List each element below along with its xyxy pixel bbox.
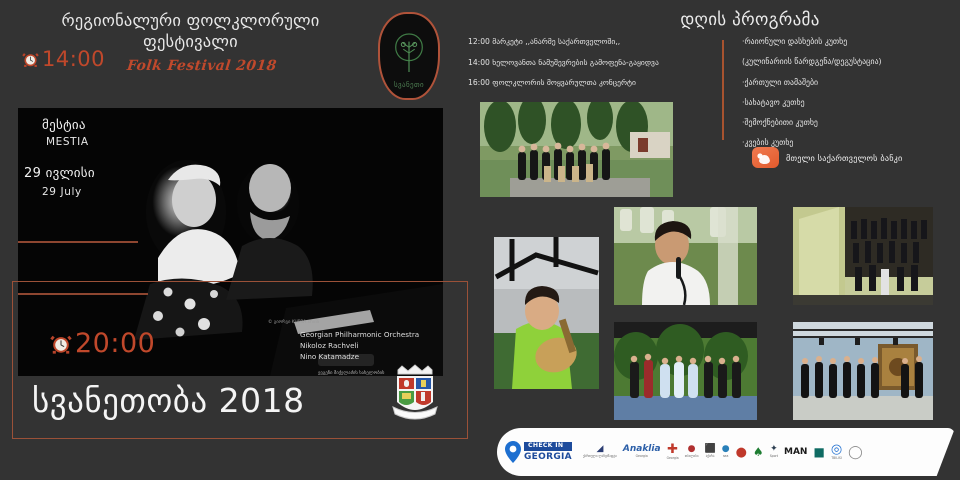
photo-group-outdoors xyxy=(480,102,673,197)
sponsor-logo-glyph: ◯ xyxy=(848,446,863,459)
program-schedule-list: 12:00 მარკეტი ,,ანარმე საქართველოში,, 14… xyxy=(468,38,698,100)
city-rule-top xyxy=(18,241,138,243)
photo-ensemble-stage xyxy=(614,322,757,420)
sponsor-logo[interactable]: MAN xyxy=(784,448,807,457)
poster-date-en: 29 July xyxy=(42,186,82,198)
program-vertical-divider xyxy=(722,40,724,140)
activity-item: ·შემოქნებითი კუთხე xyxy=(742,119,957,127)
sponsor-logos-row: ◢ ქართული ლანდშაფტი Anaklia Georgia ✚ Ge… xyxy=(583,443,863,460)
sponsor-logo[interactable]: ◯ xyxy=(848,446,863,459)
sponsor-logo-glyph: ● xyxy=(736,446,747,459)
emblem-label: სვანეთი xyxy=(380,81,438,89)
sponsor-logo-caption: sea xyxy=(723,455,728,458)
tree-emblem-icon xyxy=(390,28,428,82)
poster-city-ka: მესტია xyxy=(42,118,86,133)
header-start-time: 14:00 xyxy=(42,49,105,70)
lion-logo-icon xyxy=(752,147,779,168)
festival-bottom-title: სვანეთობა 2018 xyxy=(32,381,305,420)
header-start-time-row: 14:00 xyxy=(22,49,105,70)
schedule-item: 12:00 მარკეტი ,,ანარმე საქართველოში,, xyxy=(468,38,698,46)
georgia-label: GEORGIA xyxy=(524,453,572,462)
sponsor-logo[interactable]: ● თბილისი xyxy=(685,445,699,458)
activity-item: ·ქართული თამაშები xyxy=(742,79,957,87)
photo-dancers-stage xyxy=(793,322,933,420)
sponsor-logo[interactable]: ♠ xyxy=(753,446,764,458)
sponsor-logo[interactable]: ■ xyxy=(813,446,824,458)
sponsor-logo-glyph: ● xyxy=(722,445,730,454)
sponsor-logo[interactable]: ● xyxy=(736,446,747,459)
sponsor-logo[interactable]: Anaklia Georgia xyxy=(623,445,661,458)
sponsor-logo-glyph: MAN xyxy=(784,448,807,457)
sponsor-logo-caption: Georgia xyxy=(667,457,679,460)
photo-boy-panduri xyxy=(494,237,599,389)
check-in-label: CHECK IN xyxy=(524,442,572,451)
program-activities-list: ·რაიონული დასხების კუთხე (კულინარიის წარ… xyxy=(742,38,957,160)
sponsor-logo-caption: თბილისი xyxy=(685,455,699,458)
photo-choir-hall xyxy=(793,207,933,305)
poster-city-en: MESTIA xyxy=(46,136,89,148)
sponsor-logo-caption: Sport xyxy=(770,455,778,458)
header-script-subtitle: Folk Festival 2018 xyxy=(126,58,277,74)
sponsor-logo[interactable]: ◎ TBILISI xyxy=(831,443,842,460)
sponsor-logo-glyph: ● xyxy=(688,445,696,454)
sponsor-logo-glyph: ♠ xyxy=(753,446,764,458)
sponsor-logo[interactable]: ✚ Georgia xyxy=(667,443,679,460)
sponsor-logo-glyph: Anaklia xyxy=(623,445,661,454)
schedule-item: 16:00 ფოლკლორის მოყვარულთა კონცერტი xyxy=(468,79,698,87)
photo-singer-mic xyxy=(614,207,757,305)
sponsor-logo-caption: ქართული ლანდშაფტი xyxy=(583,455,617,458)
sponsor-logo[interactable]: ✦ Sport xyxy=(770,445,778,458)
sponsor-logo-glyph: ✦ xyxy=(770,445,778,454)
sponsor-logo[interactable]: ◢ ქართული ლანდშაფტი xyxy=(583,445,617,458)
sponsor-logo[interactable]: ● sea xyxy=(722,445,730,458)
activity-item: (კულინარიის წარდგენა/დეგუსტაცია) xyxy=(742,58,957,66)
poster-date-ka: 29 ივლისი xyxy=(24,166,95,181)
sponsor-bank-badge: მთელი საქართველოს ბანკი xyxy=(752,147,903,168)
check-in-georgia-text: CHECK IN GEORGIA xyxy=(524,442,572,462)
alarm-clock-icon xyxy=(22,51,39,68)
sponsor-logo-glyph: ■ xyxy=(813,446,824,458)
sponsor-logo-glyph: ✚ xyxy=(667,443,678,456)
activity-item: ·სახატავო კუთხე xyxy=(742,99,957,107)
sponsor-logo-glyph: ◎ xyxy=(831,443,842,456)
sponsor-logo-glyph: ⬛ xyxy=(705,445,716,454)
sponsor-logo-caption: აჭარა xyxy=(706,455,715,458)
coat-of-arms-icon xyxy=(388,362,442,426)
program-heading: დღის პროგრამა xyxy=(600,10,900,30)
header-title-line1: რეგიონალური ფოლკლორული xyxy=(18,10,363,31)
sponsor-logo-bar: CHECK IN GEORGIA ◢ ქართული ლანდშაფტი Ana… xyxy=(497,428,955,476)
location-pin-icon xyxy=(505,441,521,463)
sponsor-logo[interactable]: ⬛ აჭარა xyxy=(705,445,716,458)
sponsor-bank-name: მთელი საქართველოს ბანკი xyxy=(786,153,903,163)
sponsor-logo-caption: Georgia xyxy=(636,455,648,458)
sponsor-logo-glyph: ◢ xyxy=(596,445,603,454)
schedule-item: 14:00 ხელოვანთა ნამუშევრების გამოფენა-გა… xyxy=(468,59,698,67)
sponsor-logo-caption: TBILISI xyxy=(831,457,841,460)
festival-emblem: სვანეთი xyxy=(378,12,440,100)
activity-item: ·რაიონული დასხების კუთხე xyxy=(742,38,957,46)
festival-header-title: რეგიონალური ფოლკლორული ფესტივალი xyxy=(18,10,363,52)
poster-canvas: რეგიონალური ფოლკლორული ფესტივალი 14:00 F… xyxy=(0,0,960,480)
check-in-georgia-badge[interactable]: CHECK IN GEORGIA xyxy=(505,441,578,463)
